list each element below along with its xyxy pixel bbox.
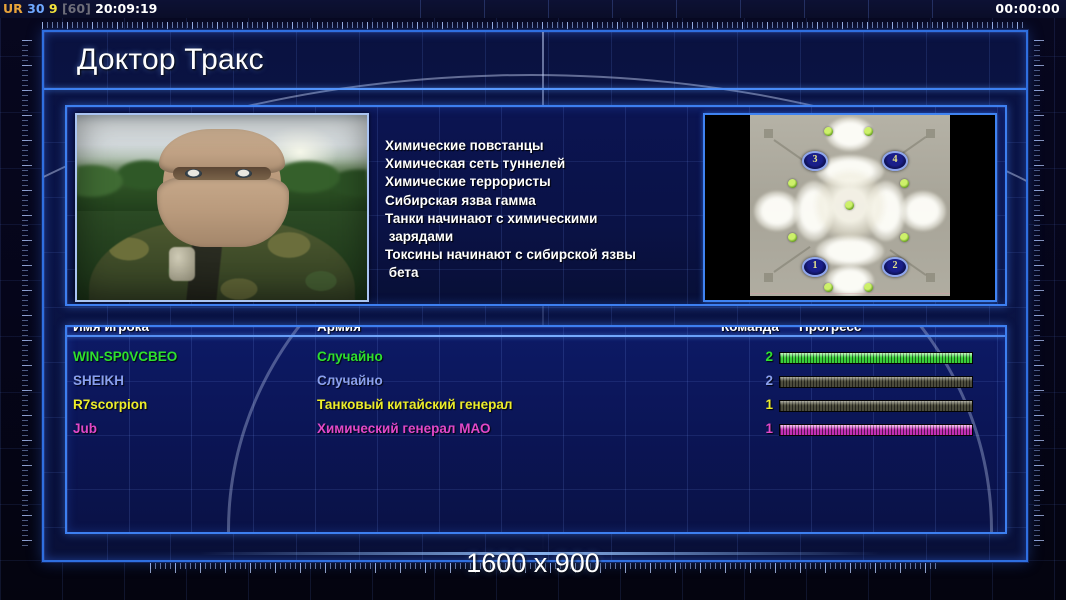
cell-army: Химический генерал МАО [317,419,491,439]
cell-team: 1 [727,419,773,439]
map-start-position-1: 1 [802,257,828,277]
main-window: Доктор Тракс [42,30,1028,562]
general-info-panel: Химические повстанцы Химическая сеть тун… [65,105,1007,306]
header-player-name: Имя игрока [73,325,149,334]
map-corner-marker [764,273,773,282]
map-feature [900,191,946,231]
status-bar: UR 30 9 [60] 20:09:19 00:00:00 [0,0,1066,18]
map-supply-dot [864,127,873,136]
fps-max: [60] [62,1,91,16]
progress-bar [779,352,973,364]
map-supply-dot [845,201,854,210]
map-supply-dot [900,233,909,242]
portrait-image [77,115,367,300]
table-row[interactable]: SHEIKHСлучайно2 [67,371,1005,395]
progress-bar-gloss [780,353,972,357]
fps-value-2: 9 [49,1,58,16]
header-divider [67,335,1005,337]
general-description: Химические повстанцы Химическая сеть тун… [385,137,695,283]
game-lobby-screen: UR 30 9 [60] 20:09:19 00:00:00 Доктор Тр… [0,0,1066,600]
title-underline [44,88,1026,90]
cell-player-name: R7scorpion [73,395,147,415]
title-bar: Доктор Тракс [44,32,1026,94]
progress-bar-gloss [780,425,972,429]
map-corner-marker [926,129,935,138]
cell-army: Танковый китайский генерал [317,395,513,415]
cell-player-name: WIN-SP0VCBEO [73,347,177,367]
general-portrait [75,113,369,302]
map-supply-dot [900,179,909,188]
table-row[interactable]: WIN-SP0VCBEOСлучайно2 [67,347,1005,371]
description-line: Токсины начинают с сибирской язвы бета [385,246,695,282]
cell-player-name: Jub [73,419,97,439]
fps-value: 30 [27,1,44,16]
map-preview-image: 3412 [750,115,950,296]
ruler-right [1034,40,1044,550]
map-corner-marker [764,129,773,138]
cell-team: 1 [727,395,773,415]
header-army: Армия [317,325,361,334]
map-supply-dot [788,179,797,188]
cell-progress [779,395,973,412]
cell-army: Случайно [317,347,383,367]
status-bar-ticks [420,0,936,18]
description-line: Химическая сеть туннелей [385,155,695,173]
description-line: Танки начинают с химическими зарядами [385,210,695,246]
header-progress: Прогресс [799,325,861,334]
progress-bar [779,400,973,412]
map-supply-dot [864,283,873,292]
page-title: Доктор Тракс [77,43,264,77]
cell-progress [779,347,973,364]
player-list-panel: Имя игрока Армия Команда Прогресс WIN-SP… [65,325,1007,534]
cell-player-name: SHEIKH [73,371,124,391]
cell-army: Случайно [317,371,383,391]
map-start-position-4: 4 [882,151,908,171]
cell-progress [779,371,973,388]
map-preview[interactable]: 3412 [703,113,997,302]
table-row[interactable]: JubХимический генерал МАО1 [67,419,1005,443]
progress-bar [779,376,973,388]
elapsed-timer: 00:00:00 [995,0,1060,18]
description-line: Химические повстанцы [385,137,695,155]
map-start-position-3: 3 [802,151,828,171]
map-scan-line [750,293,950,294]
resolution-label: 1600 x 900 [0,548,1066,579]
status-bar-left: UR 30 9 [60] 20:09:19 [3,0,157,18]
portrait-vignette [77,115,367,300]
cell-team: 2 [727,347,773,367]
clock-value: 20:09:19 [95,1,157,16]
header-team: Команда [721,325,779,334]
cell-team: 2 [727,371,773,391]
map-supply-dot [788,233,797,242]
progress-bar-gloss [780,401,972,405]
map-supply-dot [824,283,833,292]
table-header-row: Имя игрока Армия Команда Прогресс [67,325,1005,343]
description-line: Сибирская язва гамма [385,192,695,210]
player-rows: WIN-SP0VCBEOСлучайно2SHEIKHСлучайно2R7sc… [67,347,1005,443]
ruler-left [22,40,32,550]
cell-progress [779,419,973,436]
ur-label: UR [3,1,23,16]
progress-bar [779,424,973,436]
map-start-position-2: 2 [882,257,908,277]
description-line: Химические террористы [385,173,695,191]
map-corner-marker [926,273,935,282]
map-supply-dot [824,127,833,136]
table-row[interactable]: R7scorpionТанковый китайский генерал1 [67,395,1005,419]
progress-bar-gloss [780,377,972,381]
